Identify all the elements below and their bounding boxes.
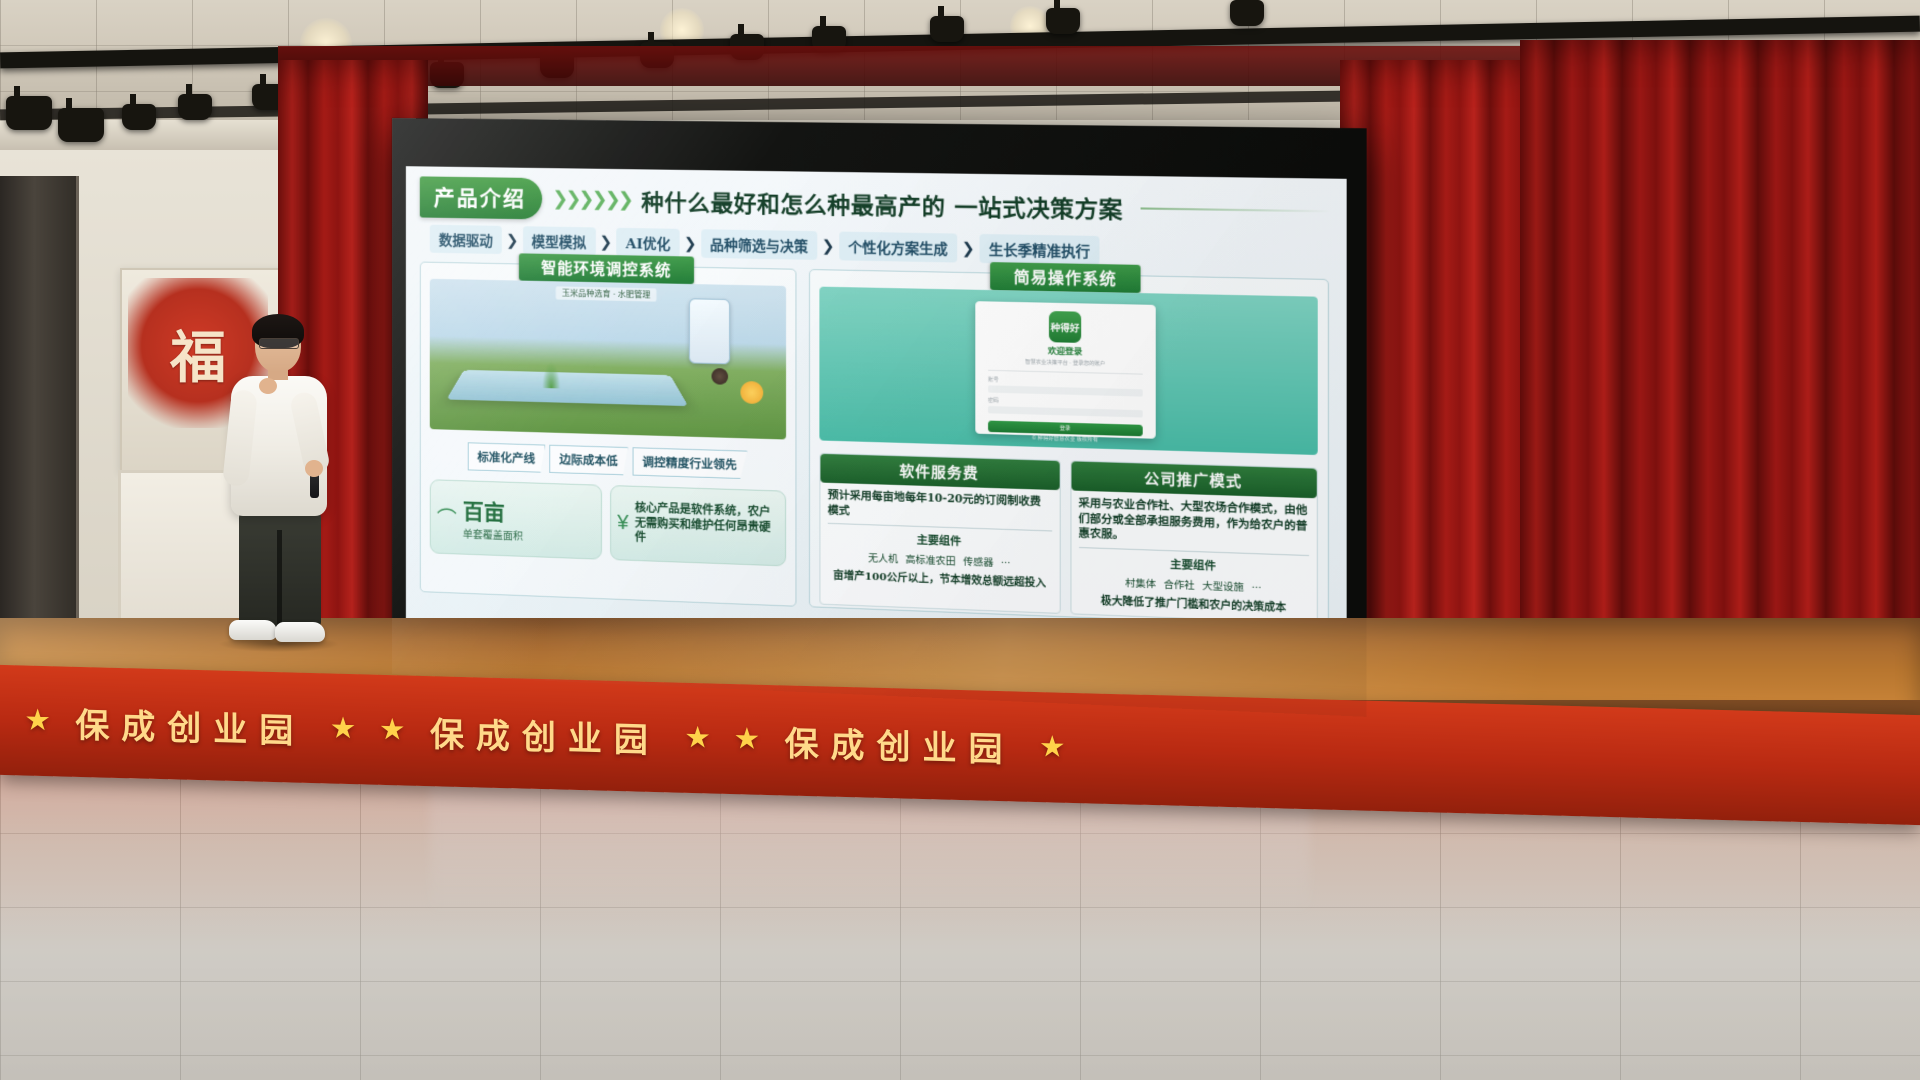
- led-screen: 产品介绍 ❯❯❯❯❯❯ 种什么最好和怎么种最高产的 一站式决策方案 数据驱动 ❯…: [406, 166, 1347, 695]
- star-icon: ★: [735, 724, 758, 755]
- star-icon: ★: [381, 715, 404, 746]
- panel-simple-operation: 简易操作系统 种得好 欢迎登录 智慧农业决策平台 · 登录您的账户 账号 密码: [809, 269, 1329, 628]
- presenter-shoe-right: [275, 622, 325, 642]
- left-panel-bottom: ⌒ 百亩 单套覆盖面积 ¥ 核心产品是软件系统，农户无需购买和维护任何昂贵硬件: [430, 479, 786, 566]
- star-icon: ★: [26, 706, 49, 737]
- left-panel-illustration: 玉米品种选育 · 水肥管理: [430, 279, 786, 440]
- card-software-fee-body: 预计采用每亩地每年10-20元的订阅制收费模式: [820, 483, 1059, 526]
- header-rule: [1140, 207, 1331, 212]
- star-icon: ★: [331, 714, 354, 745]
- chevron-right-icon: ❯: [506, 231, 519, 249]
- left-panel-title: 智能环境调控系统: [519, 253, 694, 284]
- password-input[interactable]: [988, 406, 1143, 417]
- venue-name: 保成创业园: [785, 716, 1015, 771]
- presenter-leg-split: [277, 530, 282, 628]
- venue-name: 保成创业园: [430, 707, 660, 762]
- card-promotion-model: 公司推广模式 采用与农业合作社、大型农场合作模式，由他们部分或全部承担服务费用，…: [1070, 460, 1318, 624]
- panel-smart-environment: 智能环境调控系统 玉米品种选育 · 水肥管理 标准化产线 边际成本低: [420, 262, 797, 607]
- phone-mockup-icon: [689, 298, 730, 364]
- component-item: ...: [1001, 555, 1011, 570]
- coverage-value: 百亩: [463, 495, 523, 527]
- stage-light: [6, 96, 52, 130]
- stage-light: [122, 104, 156, 130]
- app-logo-icon: 种得好: [1049, 311, 1081, 343]
- slide-panels: 智能环境调控系统 玉米品种选育 · 水肥管理 标准化产线 边际成本低: [420, 262, 1331, 628]
- coverage-highlight: ⌒ 百亩 单套覆盖面积: [430, 479, 602, 559]
- component-item: 大型设施: [1202, 578, 1244, 594]
- login-welcome: 欢迎登录: [988, 344, 1143, 359]
- coverage-label: 单套覆盖面积: [463, 525, 523, 542]
- tag-precision-leading: 调控精度行业领先: [632, 447, 747, 479]
- chevron-right-icon: ❯: [684, 234, 697, 253]
- flow-step-3: AI优化: [616, 228, 679, 258]
- chevron-right-icon: ❯: [822, 236, 835, 255]
- stage-light: [58, 108, 104, 142]
- yuan-arrow-icon: ¥: [617, 511, 628, 535]
- card-software-fee-note: 亩增产100公斤以上，节本增效总额远超投入: [820, 569, 1059, 591]
- slide-title: 种什么最好和怎么种最高产的 一站式决策方案: [641, 184, 1123, 224]
- slide-header: 产品介绍 ❯❯❯❯❯❯ 种什么最好和怎么种最高产的 一站式决策方案: [420, 176, 1331, 232]
- chevron-right-icon: ❯: [962, 239, 975, 258]
- left-panel-tags: 标准化产线 边际成本低 调控精度行业领先: [430, 441, 786, 480]
- tag-low-marginal-cost: 边际成本低: [549, 445, 628, 476]
- chevron-right-icon: ❯: [600, 233, 613, 251]
- presenter-shoe-left: [229, 620, 277, 640]
- login-subtitle: 智慧农业决策平台 · 登录您的账户: [988, 357, 1143, 368]
- slide-section-tag: 产品介绍: [420, 176, 542, 219]
- tag-standard-line: 标准化产线: [467, 442, 545, 473]
- presenter-hand-right: [305, 460, 323, 477]
- illustration-caption: 玉米品种选育 · 水肥管理: [556, 286, 657, 301]
- area-icon: ⌒: [437, 502, 457, 532]
- stage-light: [930, 16, 964, 42]
- flow-step-5: 个性化方案生成: [839, 232, 958, 263]
- divider: [988, 370, 1143, 375]
- card-software-fee: 软件服务费 预计采用每亩地每年10-20元的订阅制收费模式 主要组件 无人机 高…: [819, 453, 1060, 614]
- venue-name: 保成创业园: [75, 697, 305, 752]
- card-promotion-model-note: 极大降低了推广门槛和农户的决策成本: [1071, 594, 1317, 617]
- auditorium-scene: 福 产品介绍 ❯❯❯❯❯❯ 种什么最好和怎么种最高产的 一站式决策方案 数据驱动…: [0, 0, 1920, 1080]
- flow-step-1: 数据驱动: [430, 225, 502, 254]
- component-item: 传感器: [963, 554, 993, 570]
- presentation-slide: 产品介绍 ❯❯❯❯❯❯ 种什么最好和怎么种最高产的 一站式决策方案 数据驱动 ❯…: [406, 166, 1347, 695]
- app-login-screenshot: 种得好 欢迎登录 智慧农业决策平台 · 登录您的账户 账号 密码 登录 © 种得: [819, 287, 1317, 455]
- iot-platform-graphic: [446, 370, 688, 406]
- login-card: 种得好 欢迎登录 智慧农业决策平台 · 登录您的账户 账号 密码 登录: [975, 301, 1155, 439]
- business-model-cards: 软件服务费 预计采用每亩地每年10-20元的订阅制收费模式 主要组件 无人机 高…: [819, 453, 1317, 624]
- component-item: ...: [1251, 579, 1261, 594]
- star-icon: ★: [1041, 732, 1064, 763]
- flow-step-4: 品种筛选与决策: [701, 229, 818, 260]
- component-item: 无人机: [868, 550, 898, 565]
- card-promotion-model-items: 村集体 合作社 大型设施 ...: [1071, 573, 1317, 597]
- software-core-note: ¥ 核心产品是软件系统，农户无需购买和维护任何昂贵硬件: [610, 485, 786, 566]
- component-item: 高标准农田: [905, 552, 955, 568]
- sun-icon: [740, 381, 763, 404]
- presenter-hand-left: [259, 378, 277, 394]
- side-door: [0, 176, 79, 646]
- software-core-note-text: 核心产品是软件系统，农户无需购买和维护任何昂贵硬件: [635, 501, 779, 551]
- card-software-fee-items: 无人机 高标准农田 传感器 ...: [820, 549, 1059, 572]
- card-promotion-model-body: 采用与农业合作社、大型农场合作模式，由他们部分或全部承担服务费用，作为给农户的普…: [1071, 490, 1317, 550]
- flow-step-6: 生长季精准执行: [979, 234, 1099, 265]
- component-item: 村集体: [1125, 575, 1156, 591]
- chevron-right-icon: ❯❯❯❯❯❯: [552, 187, 631, 211]
- flow-step-2: 模型模拟: [523, 226, 596, 256]
- star-icon: ★: [686, 723, 709, 754]
- right-panel-title: 简易操作系统: [990, 262, 1140, 293]
- stage-light: [1230, 0, 1264, 26]
- sprout-icon: [542, 362, 560, 389]
- account-input[interactable]: [988, 385, 1143, 396]
- glasses-icon: [259, 338, 299, 349]
- soil-sensor-icon: [712, 368, 729, 385]
- component-item: 合作社: [1164, 576, 1195, 592]
- presenter: [213, 318, 353, 663]
- stage-light: [1046, 8, 1080, 34]
- stage-light: [178, 94, 212, 120]
